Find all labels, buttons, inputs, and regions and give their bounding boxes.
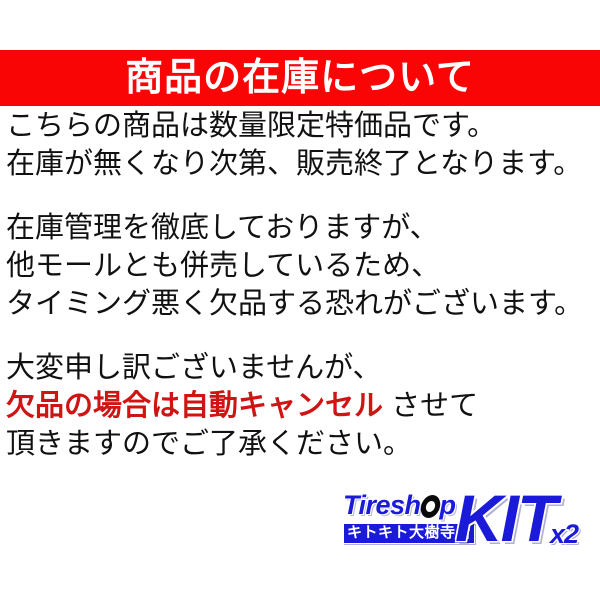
- stock-notice-page: 商品の在庫について こちらの商品は数量限定特価品です。 在庫が無くなり次第、販売…: [0, 0, 600, 600]
- notice-line: 他モールとも併売しているため、: [6, 247, 600, 285]
- header-banner: 商品の在庫について: [0, 50, 600, 106]
- shop-logo-left-group: Tireshp キトキト大樹寺店: [343, 489, 465, 544]
- notice-line: 在庫が無くなり次第、販売終了となります。: [6, 145, 600, 183]
- shop-name-label: キトキト大樹寺店: [347, 525, 471, 541]
- notice-text: させて: [383, 390, 478, 422]
- tire-icon: [421, 495, 440, 518]
- notice-text: 在庫管理を徹底しておりますが、: [6, 212, 439, 244]
- notice-text: 大変申し訳ございませんが、: [6, 352, 382, 384]
- notice-line: こちらの商品は数量限定特価品です。: [6, 107, 600, 145]
- notice-line-emphasis: 欠品の場合は自動キャンセル させて: [6, 387, 600, 425]
- notice-paragraph: 在庫管理を徹底しておりますが、 他モールとも併売しているため、 タイミング悪く欠…: [6, 209, 600, 323]
- notice-line: 頂きますのでご了承ください。: [6, 425, 600, 463]
- tireshop-wordmark-suffix: p: [440, 490, 456, 520]
- notice-text: こちらの商品は数量限定特価品です。: [6, 110, 496, 142]
- notice-paragraph: こちらの商品は数量限定特価品です。 在庫が無くなり次第、販売終了となります。: [6, 107, 600, 183]
- notice-text: タイミング悪く欠品する恐れがございます。: [6, 288, 583, 320]
- tireshop-wordmark-prefix: Tiresh: [343, 490, 421, 520]
- notice-paragraph: 大変申し訳ございませんが、 欠品の場合は自動キャンセル させて 頂きますのでご了…: [6, 349, 600, 463]
- notice-text: 在庫が無くなり次第、販売終了となります。: [6, 148, 582, 180]
- notice-text: 頂きますのでご了承ください。: [6, 428, 412, 460]
- page-title: 商品の在庫について: [125, 59, 475, 97]
- shop-logo: Tireshp キトキト大樹寺店 KIT x2: [343, 487, 591, 559]
- notice-body: こちらの商品は数量限定特価品です。 在庫が無くなり次第、販売終了となります。 在…: [6, 107, 600, 463]
- notice-line: タイミング悪く欠品する恐れがございます。: [6, 285, 600, 323]
- notice-text: 他モールとも併売しているため、: [6, 250, 440, 282]
- kit-brandmark: KIT: [455, 483, 555, 553]
- kit-suffix-x2: x2: [550, 520, 578, 548]
- notice-text-highlighted: 欠品の場合は自動キャンセル: [6, 390, 383, 422]
- tireshop-wordmark: Tireshp: [343, 489, 465, 521]
- notice-line: 在庫管理を徹底しておりますが、: [6, 209, 600, 247]
- notice-line: 大変申し訳ございませんが、: [6, 349, 600, 387]
